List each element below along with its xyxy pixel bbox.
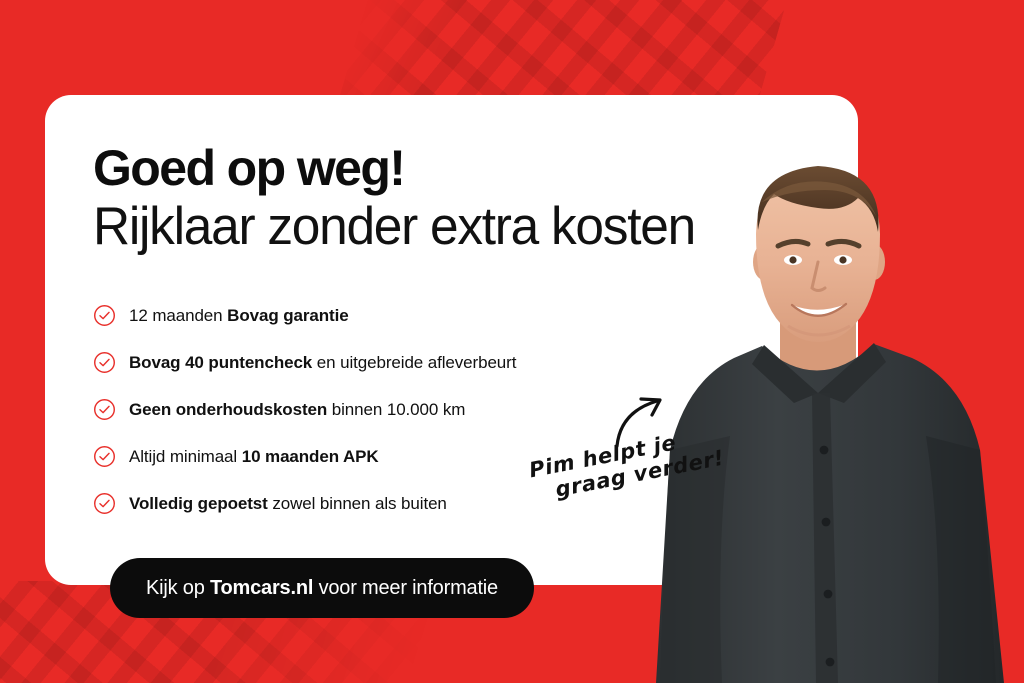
tire-tread-pattern-top xyxy=(340,0,790,95)
curved-arrow-up-right-icon xyxy=(612,392,672,450)
list-item: Geen onderhoudskosten binnen 10.000 km xyxy=(93,386,793,433)
page-subtitle: Rijklaar zonder extra kosten xyxy=(93,199,695,255)
list-item-label: Bovag 40 puntencheck en uitgebreide afle… xyxy=(129,353,516,373)
check-circle-icon xyxy=(93,351,116,374)
list-item-label: 12 maanden Bovag garantie xyxy=(129,306,349,326)
promo-banner: Goed op weg! Rijklaar zonder extra koste… xyxy=(0,0,1024,683)
check-circle-icon xyxy=(93,445,116,468)
check-circle-icon xyxy=(93,398,116,421)
content-card: Goed op weg! Rijklaar zonder extra koste… xyxy=(45,95,858,585)
page-title: Goed op weg! xyxy=(93,143,404,193)
list-item: Volledig gepoetst zowel binnen als buite… xyxy=(93,480,793,527)
benefits-list: 12 maanden Bovag garantie Bovag 40 punte… xyxy=(93,292,793,527)
check-circle-icon xyxy=(93,492,116,515)
check-circle-icon xyxy=(93,304,116,327)
list-item: Bovag 40 puntencheck en uitgebreide afle… xyxy=(93,339,793,386)
cta-button[interactable]: Kijk op Tomcars.nl voor meer informatie xyxy=(110,558,534,618)
list-item-label: Altijd minimaal 10 maanden APK xyxy=(129,447,379,467)
list-item: 12 maanden Bovag garantie xyxy=(93,292,793,339)
list-item-label: Volledig gepoetst zowel binnen als buite… xyxy=(129,494,447,514)
list-item-label: Geen onderhoudskosten binnen 10.000 km xyxy=(129,400,465,420)
cta-label: Kijk op Tomcars.nl voor meer informatie xyxy=(146,577,498,600)
